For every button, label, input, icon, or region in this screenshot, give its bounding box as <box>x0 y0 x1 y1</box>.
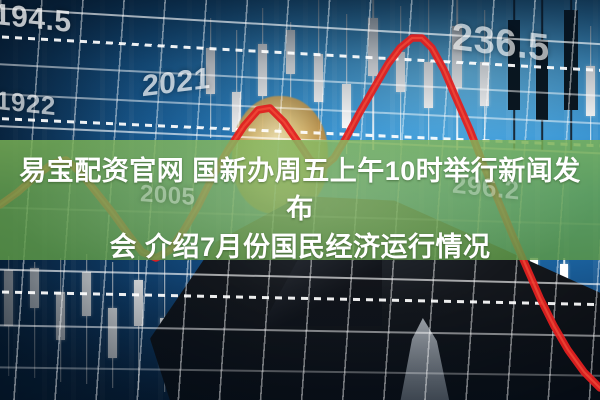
headline-line-2: 会 介绍7月份国民经济运行情况 <box>0 228 600 266</box>
news-cover-image: 194.5 1922 2021 236.5 2005 296.2 易宝配资官网 … <box>0 0 600 400</box>
headline-line-1: 易宝配资官网 国新办周五上午10时举行新闻发布 <box>0 152 600 228</box>
ghost-number-1922: 1922 <box>0 85 56 122</box>
headline-text: 易宝配资官网 国新办周五上午10时举行新闻发布 会 介绍7月份国民经济运行情况 <box>0 152 600 266</box>
